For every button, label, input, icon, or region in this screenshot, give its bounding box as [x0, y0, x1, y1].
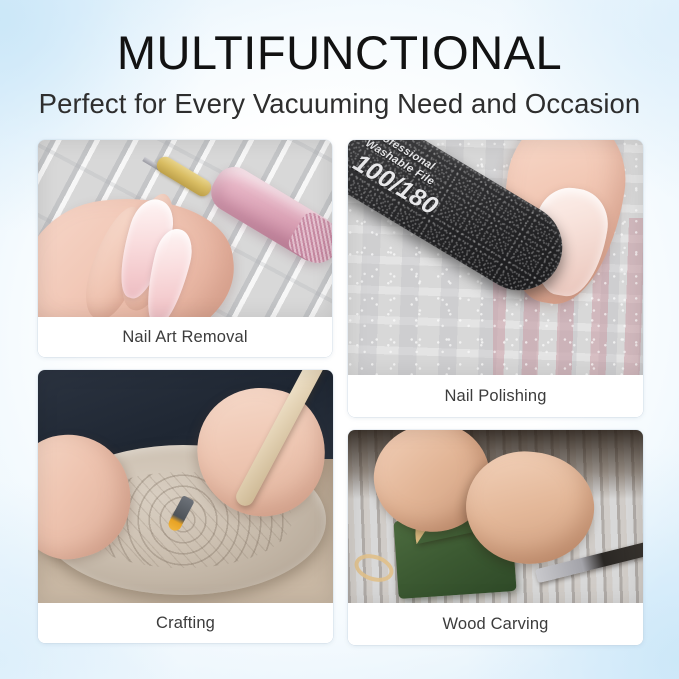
page-title: MULTIFUNCTIONAL — [0, 27, 679, 79]
card-caption-nail-art-removal: Nail Art Removal — [38, 317, 332, 357]
feature-card-wood-carving[interactable]: Wood Carving — [348, 430, 643, 645]
feature-card-nail-art-removal[interactable]: Nail Art Removal — [38, 140, 332, 357]
card-image-nail-art-removal — [38, 140, 332, 317]
feature-card-nail-polishing[interactable]: Professional Washable File 100/180 Nail … — [348, 140, 643, 417]
header: MULTIFUNCTIONAL Perfect for Every Vacuum… — [0, 27, 679, 119]
card-image-nail-polishing: Professional Washable File 100/180 — [348, 140, 643, 375]
promo-banner: MULTIFUNCTIONAL Perfect for Every Vacuum… — [0, 0, 679, 679]
card-caption-wood-carving: Wood Carving — [348, 603, 643, 645]
feature-card-crafting[interactable]: Crafting — [38, 370, 333, 643]
page-subtitle: Perfect for Every Vacuuming Need and Occ… — [0, 88, 679, 120]
card-caption-nail-polishing: Nail Polishing — [348, 375, 643, 417]
card-image-crafting — [38, 370, 333, 603]
card-image-wood-carving — [348, 430, 643, 603]
card-caption-crafting: Crafting — [38, 603, 333, 643]
